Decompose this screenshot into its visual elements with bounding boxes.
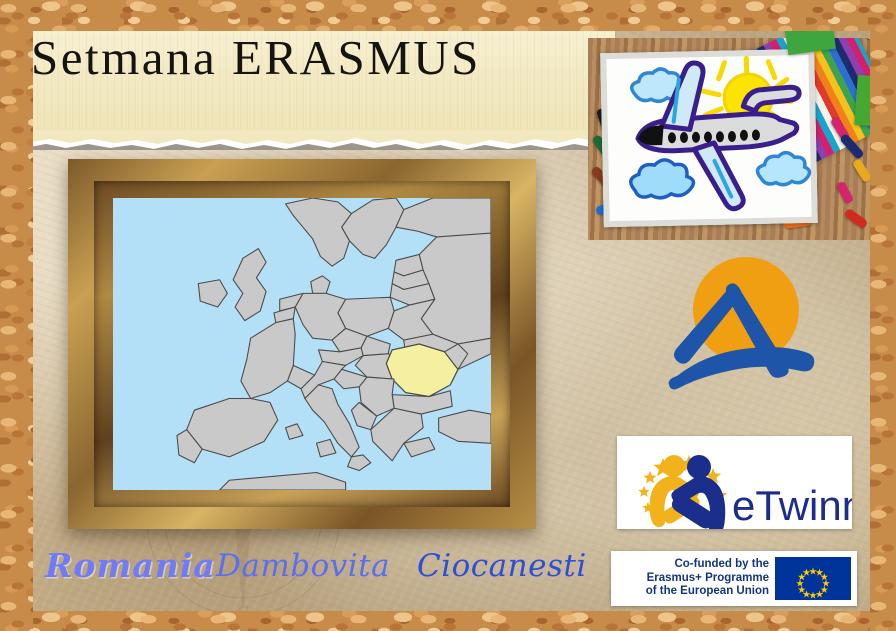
eu-flag xyxy=(775,557,851,600)
picture-frame-inner-bevel xyxy=(94,181,510,507)
erasmus-week-poster: S Setmana ERASMUS 21 - 26 d'abril xyxy=(0,0,896,631)
etwinning-logo: eTwinning xyxy=(617,436,852,529)
eu-badge-line-2: Erasmus+ Programme xyxy=(617,572,769,586)
cork-border-top xyxy=(0,0,896,31)
eu-badge-text: Co-funded by the Erasmus+ Programme of t… xyxy=(617,558,769,599)
cloud-bottom-right xyxy=(757,152,810,185)
cork-border-right xyxy=(870,0,896,631)
picture-frame xyxy=(68,159,536,529)
europe-map-svg xyxy=(113,198,491,490)
etwinning-blue-head xyxy=(687,455,711,479)
cork-border-bottom xyxy=(0,611,896,631)
banner-torn-edge xyxy=(30,130,615,150)
eu-cofunding-badge: Co-funded by the Erasmus+ Programme of t… xyxy=(611,551,857,606)
eu-badge-line-1: Co-funded by the xyxy=(617,558,769,572)
cork-border-left xyxy=(0,0,33,631)
eu-badge-line-3: of the European Union xyxy=(617,585,769,599)
europe-map xyxy=(113,198,491,490)
etwinning-wordmark: eTwinning xyxy=(732,482,852,529)
location-word-dambovita: Dambovita xyxy=(216,548,390,584)
etwinning-yellow-head xyxy=(663,455,685,477)
cloud-bottom-left xyxy=(630,159,693,198)
crayon-airplane-drawing-photo xyxy=(588,38,870,240)
drawing-paper xyxy=(600,49,818,227)
page-title: Setmana ERASMUS xyxy=(31,29,481,86)
sun-mountain-logo xyxy=(650,248,830,418)
location-word-romania: Romania xyxy=(45,546,216,585)
location-word-ciocanesti: Ciocanesti xyxy=(417,548,587,584)
